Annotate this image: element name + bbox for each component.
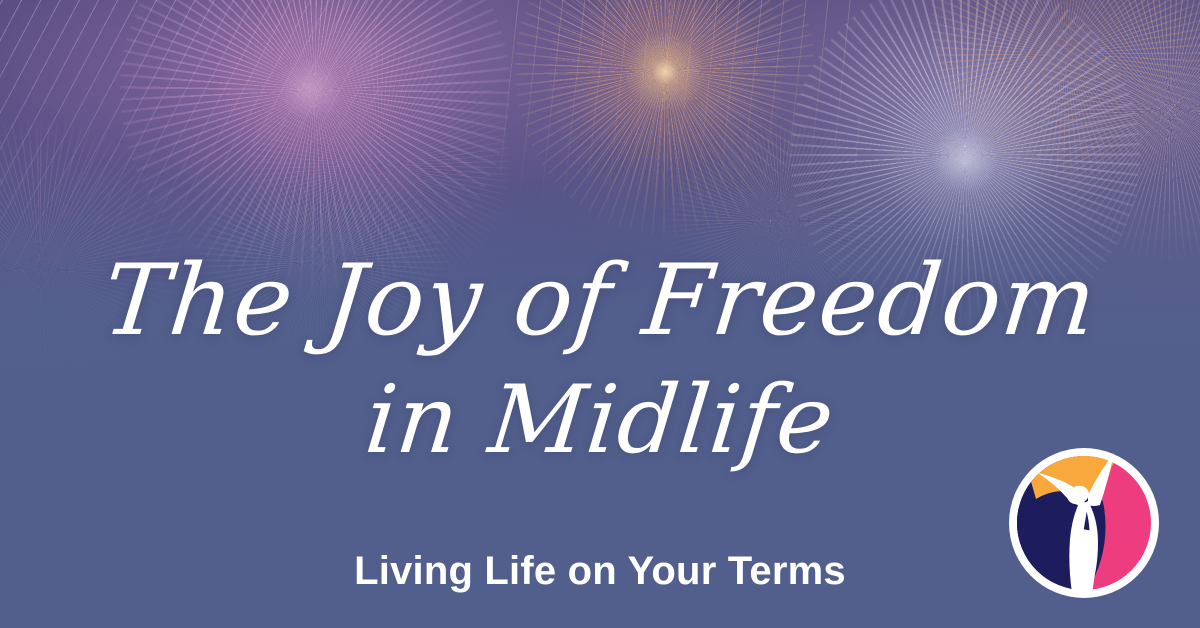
promo-banner: The Joy of Freedom in Midlife Living Lif…	[0, 0, 1200, 628]
brand-logo[interactable]	[1008, 447, 1160, 599]
logo-figure-hips	[1072, 529, 1097, 593]
title-line-1: The Joy of Freedom	[0, 252, 1200, 350]
banner-content: The Joy of Freedom in Midlife Living Lif…	[0, 0, 1200, 628]
banner-title: The Joy of Freedom in Midlife	[0, 252, 1200, 468]
